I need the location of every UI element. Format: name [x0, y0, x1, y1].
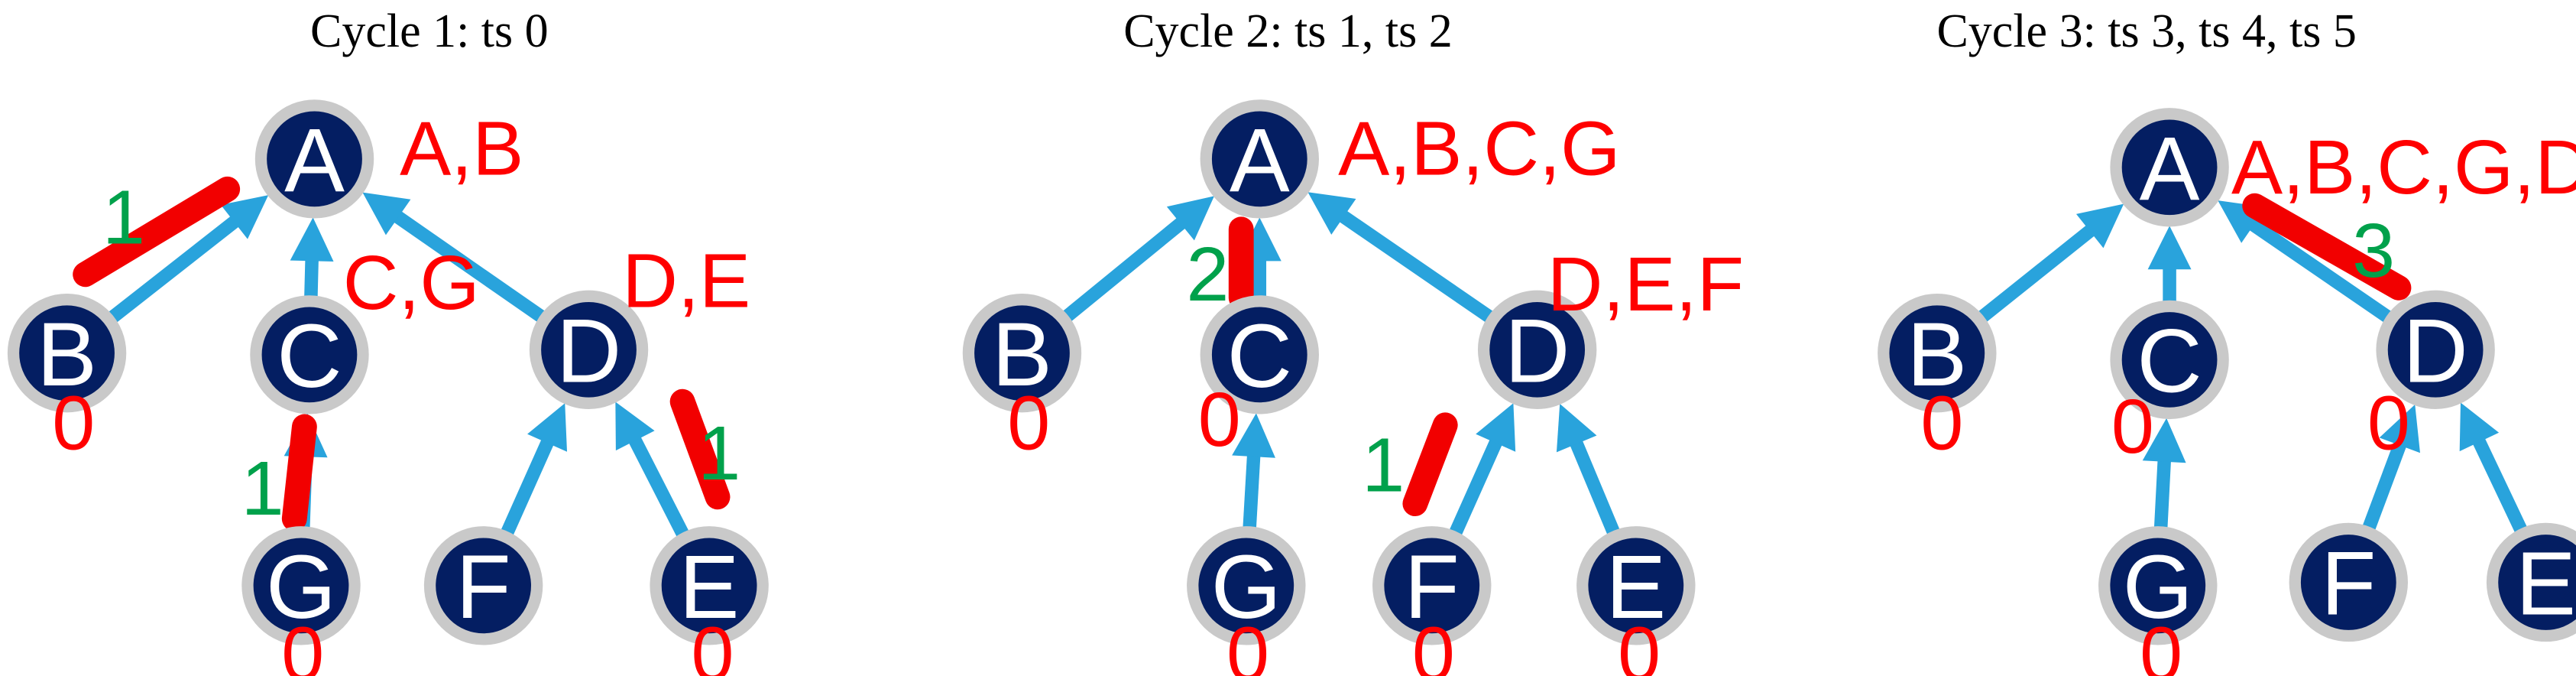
node-counter-D: 0: [2367, 381, 2410, 466]
node-label: A: [2140, 119, 2200, 219]
node-counter-G: 0: [2140, 612, 2182, 676]
node-E[interactable]: E: [2493, 528, 2576, 635]
node-A[interactable]: A: [2116, 114, 2223, 221]
node-label: F: [2321, 534, 2376, 635]
edge-shaft: [1981, 228, 2094, 317]
node-counter-B: 0: [1920, 381, 1963, 466]
node-label: D: [2403, 301, 2467, 402]
set-annotation: A,B,C,G,D,E,F: [2231, 125, 2576, 210]
node-label: E: [2516, 534, 2576, 635]
edge-B-to-A: [1981, 204, 2124, 318]
token-count: 3: [2352, 208, 2395, 294]
diagram-canvas: Cycle 1: ts 0111ABCDGFEA,BC,GD,E000Cycle…: [0, 0, 2576, 676]
cycle-panel-3: Cycle 3: ts 3, ts 4, ts 53ABCDGFEA,B,C,G…: [0, 0, 2576, 676]
node-counter-C: 0: [2111, 384, 2154, 470]
edge-shaft: [2161, 457, 2165, 528]
arrowhead-icon: [2148, 226, 2192, 269]
edge-E-to-D: [2460, 402, 2522, 531]
panel-graph: 3ABCDGFEA,B,C,G,D,E,F0000: [0, 0, 2576, 676]
edge-shaft: [2477, 437, 2522, 531]
node-F[interactable]: F: [2295, 528, 2402, 635]
edge-C-to-A: [2148, 226, 2192, 303]
